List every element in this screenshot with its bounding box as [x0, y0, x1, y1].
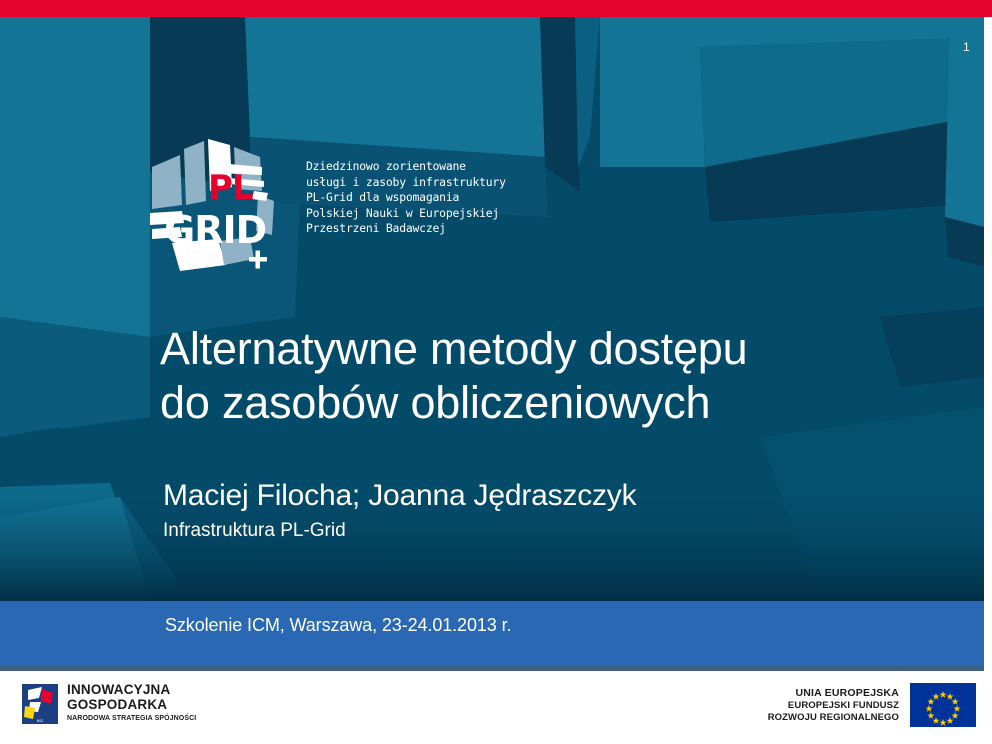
footer-right-logo: UNIA EUROPEJSKA EUROPEJSKI FUNDUSZ ROZWO…	[768, 683, 976, 727]
footer-left-logo: NSS INNOWACYJNA GOSPODARKA NARODOWA STRA…	[22, 683, 196, 724]
presentation-slide: 1	[0, 0, 992, 744]
ig-line-2: GOSPODARKA	[67, 698, 196, 713]
eu-line-3: ROZWOJU REGIONALNEGO	[768, 712, 899, 724]
page-number: 1	[963, 41, 970, 53]
pl-grid-plus-logo-icon: PL GRID	[146, 131, 286, 279]
top-red-bar	[0, 0, 992, 17]
right-edge-seam	[984, 17, 992, 601]
plgrid-logo-block: PL GRID Dziedzinowo zorientowane usługi …	[146, 131, 566, 281]
ig-line-3: NARODOWA STRATEGIA SPÓJNOŚCI	[67, 713, 196, 724]
ig-line-1: INNOWACYJNA	[67, 683, 196, 698]
slide-affiliation: Infrastruktura PL-Grid	[163, 518, 923, 544]
eu-flag-icon	[910, 683, 976, 727]
innowacyjna-gospodarka-emblem-icon: NSS	[22, 684, 58, 724]
innowacyjna-gospodarka-text: INNOWACYJNA GOSPODARKA NARODOWA STRATEGI…	[67, 683, 196, 724]
logo-tagline: Dziedzinowo zorientowane usługi i zasoby…	[306, 159, 506, 237]
slide-footer: NSS INNOWACYJNA GOSPODARKA NARODOWA STRA…	[0, 671, 992, 744]
eu-line-1: UNIA EUROPEJSKA	[768, 687, 899, 700]
unia-europejska-text: UNIA EUROPEJSKA EUROPEJSKI FUNDUSZ ROZWO…	[768, 687, 899, 724]
eu-line-2: EUROPEJSKI FUNDUSZ	[768, 700, 899, 712]
slide-authors: Maciej Filocha; Joanna Jędraszczyk	[163, 477, 923, 515]
slide-title: Alternatywne metody dostępu do zasobów o…	[160, 322, 950, 430]
svg-text:NSS: NSS	[37, 719, 43, 723]
svg-text:GRID: GRID	[164, 208, 266, 252]
event-details: Szkolenie ICM, Warszawa, 23-24.01.2013 r…	[165, 613, 511, 637]
svg-text:PL: PL	[208, 168, 253, 208]
